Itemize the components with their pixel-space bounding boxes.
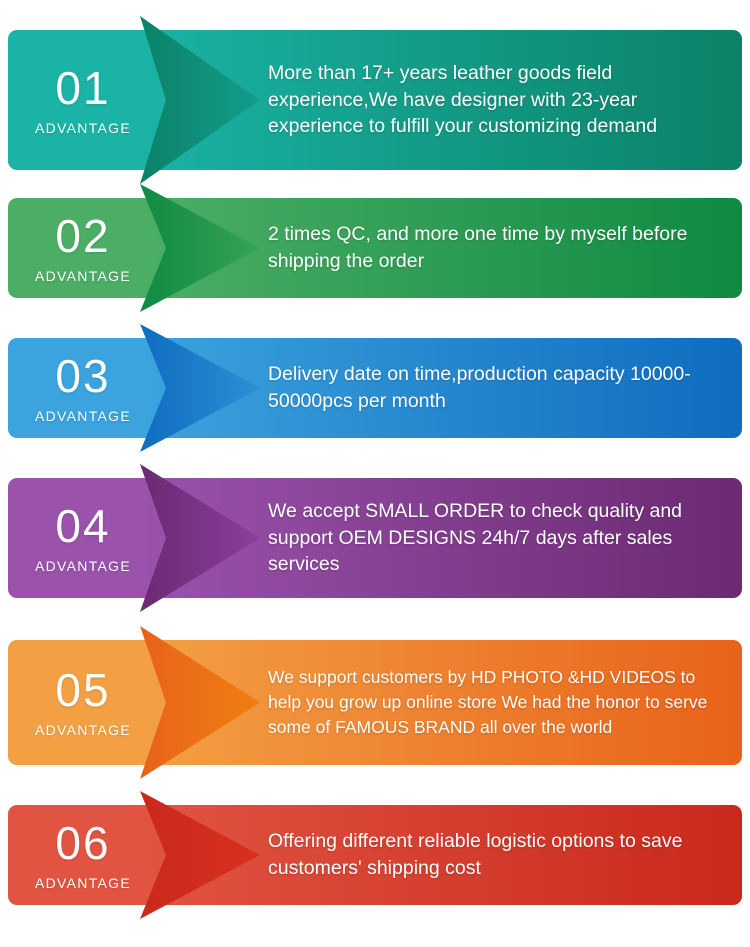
advantage-arrow-shape-05: [140, 626, 260, 779]
advantage-row-04[interactable]: 04ADVANTAGEWe accept SMALL ORDER to chec…: [0, 478, 750, 598]
advantage-bar-06: [8, 805, 742, 905]
advantage-arrow-01: [140, 16, 260, 184]
advantage-arrow-04: [140, 464, 260, 612]
advantage-arrow-05: [140, 626, 260, 779]
advantage-row-01[interactable]: 01ADVANTAGEMore than 17+ years leather g…: [0, 30, 750, 170]
advantage-row-05[interactable]: 05ADVANTAGEWe support customers by HD PH…: [0, 640, 750, 765]
advantage-arrow-03: [140, 324, 260, 452]
advantage-board: 01ADVANTAGEMore than 17+ years leather g…: [0, 0, 750, 947]
advantage-bar-01: [8, 30, 742, 170]
advantage-arrow-shape-02: [140, 184, 260, 312]
advantage-arrow-shape-04: [140, 464, 260, 612]
advantage-row-06[interactable]: 06ADVANTAGEOffering different reliable l…: [0, 805, 750, 905]
advantage-arrow-shape-01: [140, 16, 260, 184]
advantage-bar-02: [8, 198, 742, 298]
advantage-arrow-02: [140, 184, 260, 312]
advantage-arrow-shape-06: [140, 791, 260, 919]
advantage-bar-03: [8, 338, 742, 438]
advantage-row-03[interactable]: 03ADVANTAGEDelivery date on time,product…: [0, 338, 750, 438]
advantage-row-02[interactable]: 02ADVANTAGE2 times QC, and more one time…: [0, 198, 750, 298]
advantage-bar-04: [8, 478, 742, 598]
advantage-bar-05: [8, 640, 742, 765]
advantage-arrow-shape-03: [140, 324, 260, 452]
advantage-arrow-06: [140, 791, 260, 919]
